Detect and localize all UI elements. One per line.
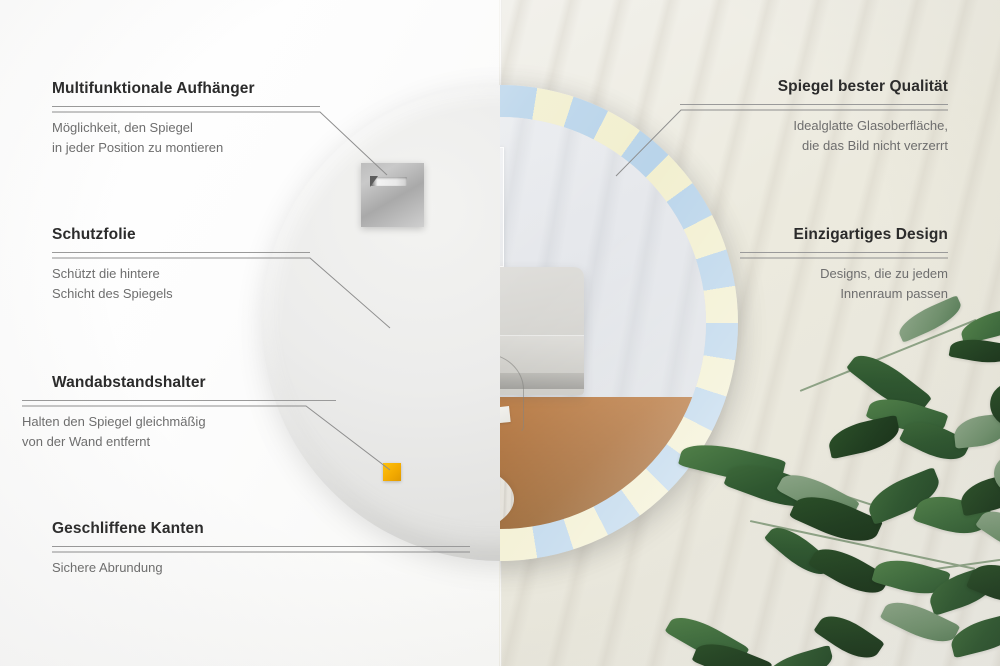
callout-desc-line-1: Idealglatte Glasoberfläche, — [680, 116, 948, 136]
callout-rule — [52, 252, 310, 253]
callout-title: Spiegel bester Qualität — [680, 78, 948, 95]
callout-desc-line-2: Innenraum passen — [740, 284, 948, 304]
infographic-canvas: Multifunktionale Aufhänger Möglichkeit, … — [0, 0, 1000, 666]
callout-title: Schutzfolie — [52, 226, 310, 243]
callout-title: Geschliffene Kanten — [52, 520, 470, 537]
callout-geschliffene-kanten: Geschliffene Kanten Sichere Abrundung — [52, 520, 470, 578]
callout-schutzfolie: Schutzfolie Schützt die hintere Schicht … — [52, 226, 310, 303]
callout-title: Wandabstandshalter — [52, 374, 336, 391]
callout-desc-line-2: Schicht des Spiegels — [52, 284, 310, 304]
foliage-decoration — [660, 330, 1000, 666]
callout-desc-line-1: Halten den Spiegel gleichmäßig — [22, 412, 336, 432]
callout-spiegel-bester-qualitaet: Spiegel bester Qualität Idealglatte Glas… — [680, 78, 948, 155]
callout-desc-line-2: in jeder Position zu montieren — [52, 138, 320, 158]
hanger-slot-icon — [371, 177, 407, 186]
callout-title: Multifunktionale Aufhänger — [52, 80, 320, 97]
wall-spacer-block — [383, 463, 401, 481]
callout-rule — [740, 252, 948, 253]
callout-rule — [680, 104, 948, 105]
callout-rule — [22, 400, 336, 401]
callout-einzigartiges-design: Einzigartiges Design Designs, die zu jed… — [740, 226, 948, 303]
callout-rule — [52, 546, 470, 547]
callout-rule — [52, 106, 320, 107]
callout-desc-line-1: Schützt die hintere — [52, 264, 310, 284]
callout-wandabstandshalter: Wandabstandshalter Halten den Spiegel gl… — [22, 374, 336, 451]
callout-desc-line-1: Designs, die zu jedem — [740, 264, 948, 284]
callout-desc-line-2: die das Bild nicht verzerrt — [680, 136, 948, 156]
callout-desc-line-1: Sichere Abrundung — [52, 558, 470, 578]
callout-desc-line-2: von der Wand entfernt — [22, 432, 336, 452]
hanger-plate — [361, 163, 424, 227]
callout-desc-line-1: Möglichkeit, den Spiegel — [52, 118, 320, 138]
callout-title: Einzigartiges Design — [740, 226, 948, 243]
callout-multifunktionale-aufhaenger: Multifunktionale Aufhänger Möglichkeit, … — [52, 80, 320, 157]
